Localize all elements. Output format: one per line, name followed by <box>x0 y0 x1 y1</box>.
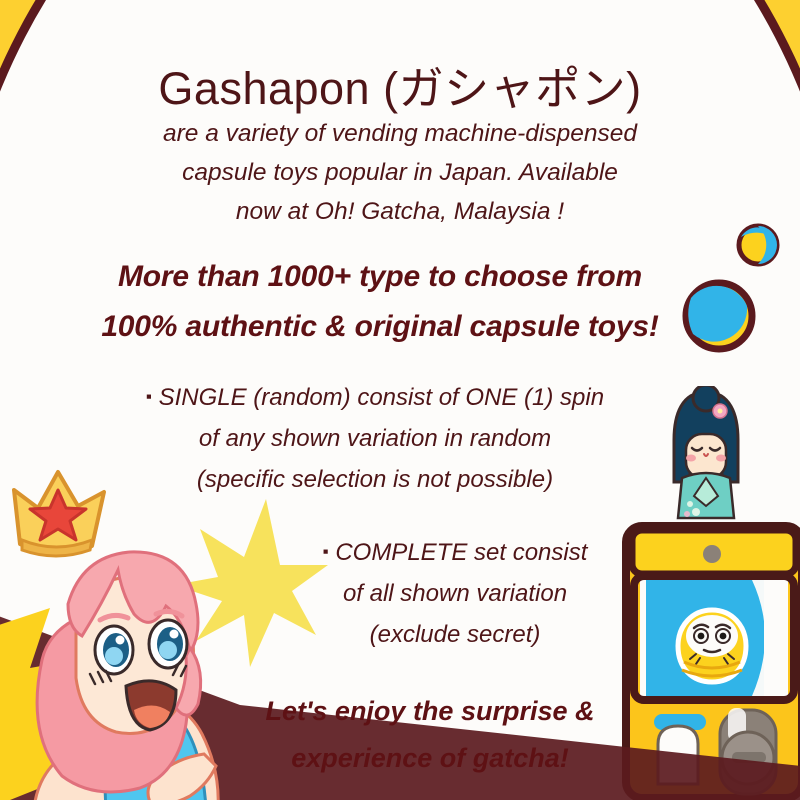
intro-paragraph: are a variety of vending machine-dispens… <box>100 114 700 231</box>
bullet-complete: ▪ COMPLETE set consist of all shown vari… <box>240 531 670 655</box>
bullet-complete-line-3: (exclude secret) <box>240 614 670 655</box>
bullet-single-line-3: (specific selection is not possible) <box>110 459 640 500</box>
closing-message: Let's enjoy the surprise & experience of… <box>200 688 660 782</box>
bullet-marker-icon: ▪ <box>323 542 329 561</box>
closing-line-1: Let's enjoy the surprise & <box>200 688 660 735</box>
bullet-single-line-1: ▪ SINGLE (random) consist of ONE (1) spi… <box>110 376 640 418</box>
bullet-single-line-2: of any shown variation in random <box>110 418 640 459</box>
bullet-complete-line-1: ▪ COMPLETE set consist <box>240 531 670 573</box>
bullet-single: ▪ SINGLE (random) consist of ONE (1) spi… <box>110 376 640 500</box>
highlight-line-2: 100% authentic & original capsule toys! <box>40 302 720 352</box>
intro-line-2: capsule toys popular in Japan. Available <box>100 153 700 192</box>
intro-line-3: now at Oh! Gatcha, Malaysia ! <box>100 192 700 231</box>
highlight-block: More than 1000+ type to choose from 100%… <box>40 252 720 352</box>
highlight-line-1: More than 1000+ type to choose from <box>40 252 720 302</box>
gashapon-promo-poster: Gashapon (ガシャポン) are a variety of vendin… <box>0 0 800 800</box>
poster-copy: Gashapon (ガシャポン) are a variety of vendin… <box>0 0 800 800</box>
intro-line-1: are a variety of vending machine-dispens… <box>100 114 700 153</box>
bullet-complete-line-2: of all shown variation <box>240 573 670 614</box>
bullet-single-text-1: SINGLE (random) consist of ONE (1) spin <box>159 384 604 411</box>
closing-line-2: experience of gatcha! <box>200 735 660 782</box>
bullet-complete-text-1: COMPLETE set consist <box>335 539 587 566</box>
page-title: Gashapon (ガシャポン) <box>0 52 800 117</box>
bullet-marker-icon: ▪ <box>146 387 152 406</box>
